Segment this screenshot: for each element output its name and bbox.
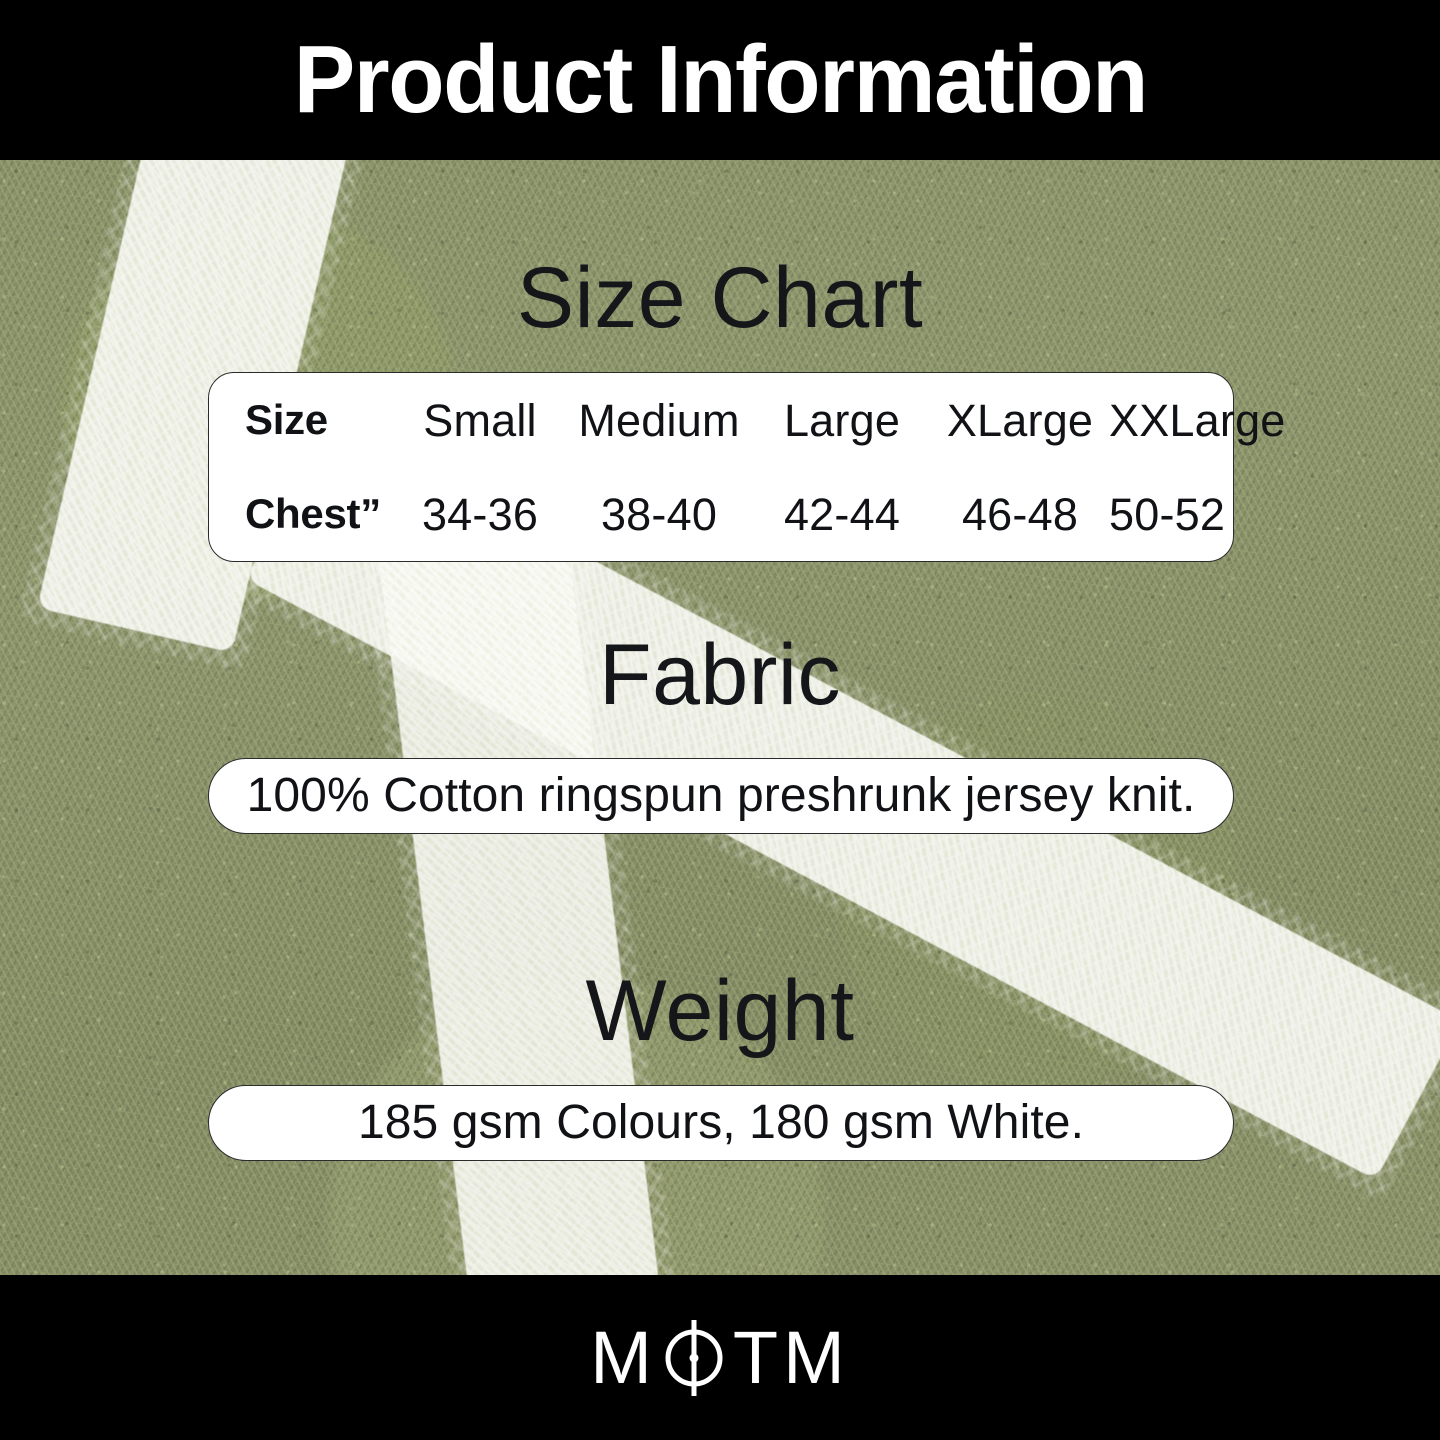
weight-value-text: 185 gsm Colours, 180 gsm White.: [358, 1099, 1084, 1147]
logo-letter-m1: M: [590, 1321, 657, 1395]
table-header-medium: Medium: [565, 398, 753, 443]
header-bar: Product Information: [0, 0, 1440, 160]
table-header-xlarge: XLarge: [931, 398, 1109, 443]
table-cell-chest-xxlarge: 50-52: [1109, 492, 1225, 537]
logo-letter-m2: M: [783, 1321, 850, 1395]
size-chart-table: Size Small Medium Large XLarge XXLarge C…: [208, 372, 1234, 562]
table-cell-chest-medium: 38-40: [565, 492, 753, 537]
table-cell-chest-xlarge: 46-48: [931, 492, 1109, 537]
product-information-graphic: Product Information Size Chart Size Smal…: [0, 0, 1440, 1440]
page-title: Product Information: [293, 32, 1146, 128]
table-header-small: Small: [395, 398, 565, 443]
table-row-chest: Chest” 34-36 38-40 42-44 46-48 50-52: [231, 467, 1211, 561]
logo-letter-t: T: [733, 1321, 783, 1395]
brand-logo: M T M: [590, 1315, 850, 1401]
fabric-value-text: 100% Cotton ringspun preshrunk jersey kn…: [247, 772, 1196, 820]
fabric-heading: Fabric: [0, 632, 1440, 718]
table-row-header: Size Small Medium Large XLarge XXLarge: [231, 373, 1211, 467]
table-cell-chest-small: 34-36: [395, 492, 565, 537]
fabric-value-pill: 100% Cotton ringspun preshrunk jersey kn…: [208, 758, 1234, 834]
weight-heading: Weight: [0, 968, 1440, 1054]
table-header-xxlarge: XXLarge: [1109, 398, 1286, 443]
footer-bar: M T M: [0, 1275, 1440, 1440]
size-chart-heading: Size Chart: [0, 255, 1440, 341]
table-header-large: Large: [753, 398, 931, 443]
table-header-size-label: Size: [231, 399, 395, 441]
phi-circle-icon: [659, 1315, 729, 1401]
table-row-label-chest: Chest”: [231, 493, 395, 535]
table-cell-chest-large: 42-44: [753, 492, 931, 537]
weight-value-pill: 185 gsm Colours, 180 gsm White.: [208, 1085, 1234, 1161]
main-content: Size Chart Size Small Medium Large XLarg…: [0, 160, 1440, 1275]
